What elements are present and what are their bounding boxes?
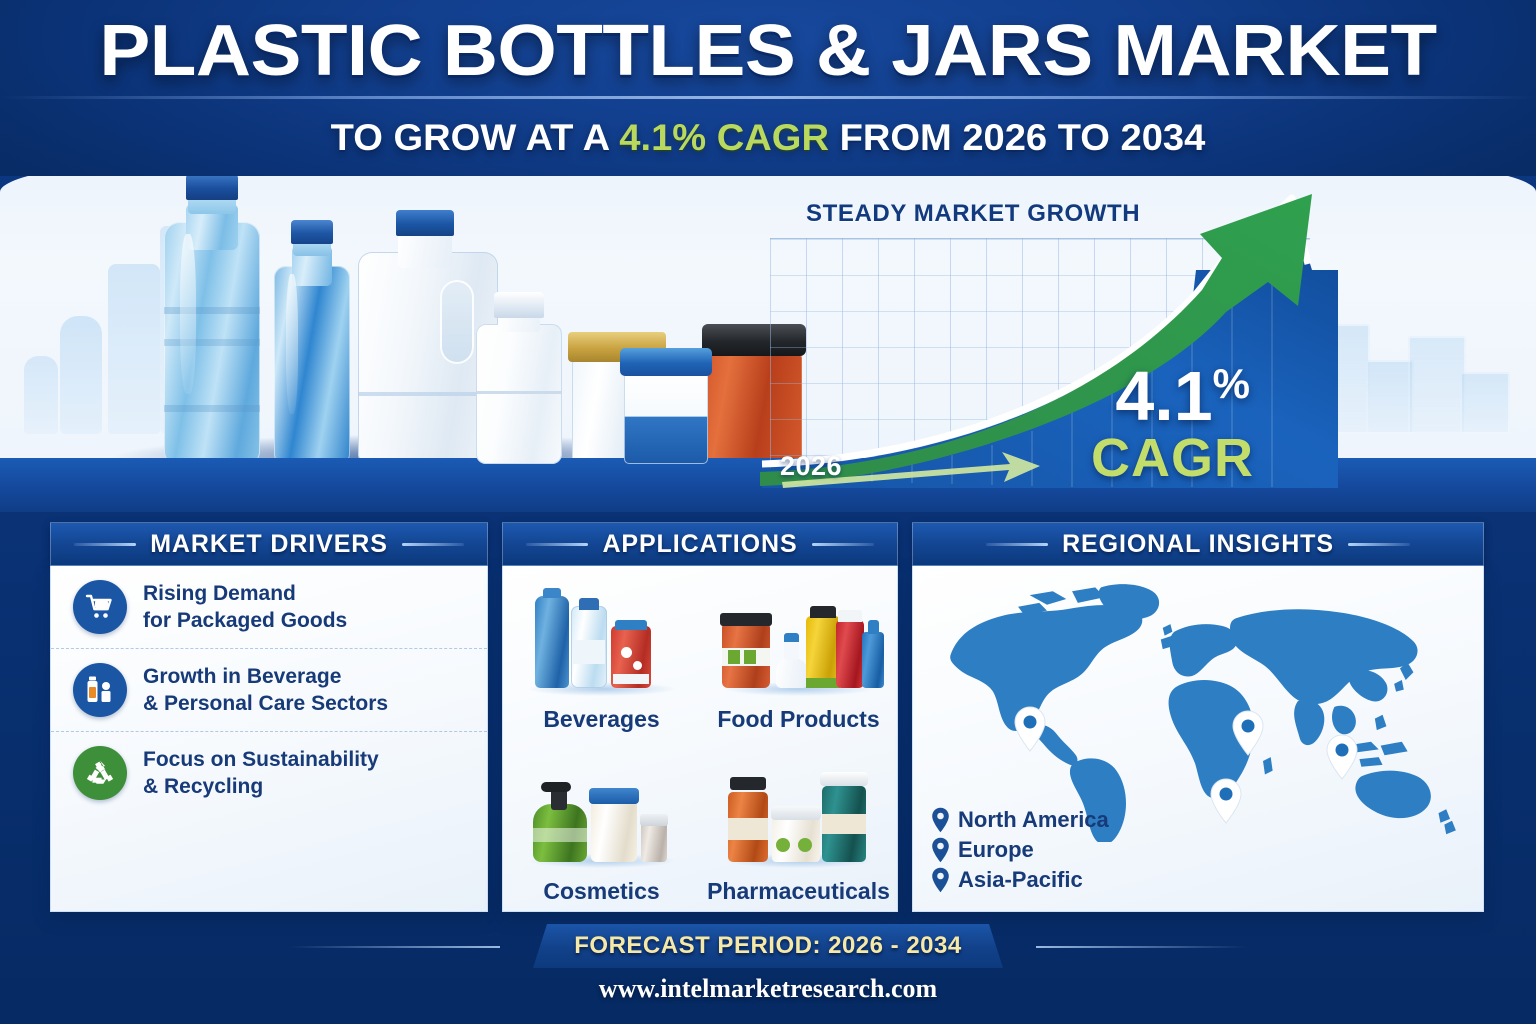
application-label: Cosmetics: [543, 878, 659, 905]
application-item[interactable]: Cosmetics: [503, 739, 700, 912]
shopping-cart-icon: [73, 580, 127, 634]
website-url[interactable]: www.intelmarketresearch.com: [0, 974, 1536, 1004]
driver-line-2: for Packaged Goods: [143, 609, 347, 632]
pin-icon: [931, 837, 950, 863]
page-subtitle: TO GROW AT A 4.1% CAGR FROM 2026 TO 2034: [0, 116, 1536, 160]
panel-body-market-drivers: Rising Demand for Packaged Goods: [50, 566, 488, 912]
driver-text: Focus on Sustainability & Recycling: [143, 746, 379, 800]
bg-bottle-silhouette: [24, 356, 58, 434]
subtitle-post: FROM 2026 TO 2034: [829, 117, 1205, 158]
jar-lid-blue: [620, 348, 712, 376]
header-rule-right: [812, 543, 874, 546]
driver-item[interactable]: Growth in Beverage & Personal Care Secto…: [51, 648, 487, 731]
region-item[interactable]: Asia-Pacific: [931, 867, 1109, 893]
driver-line-1: Rising Demand: [143, 582, 296, 605]
header-rule-right: [402, 543, 464, 546]
pet-bottle-tall: [160, 176, 264, 464]
panel-title: MARKET DRIVERS: [150, 530, 388, 559]
driver-line-2: & Personal Care Sectors: [143, 692, 388, 715]
map-pin-africa[interactable]: [1209, 778, 1243, 824]
page-title: PLASTIC BOTTLES & JARS MARKET: [0, 12, 1536, 90]
white-bottle-small: [472, 288, 566, 464]
cagr-value: 4.1%: [1115, 352, 1250, 428]
infographic-poster: PLASTIC BOTTLES & JARS MARKET TO GROW AT…: [0, 0, 1536, 1024]
pharma-bottles-icon: [714, 756, 884, 874]
driver-line-1: Growth in Beverage: [143, 665, 341, 688]
panel-header-market-drivers: MARKET DRIVERS: [50, 522, 488, 566]
panels-row: MARKET DRIVERS Rising Demand: [0, 512, 1536, 914]
driver-text: Rising Demand for Packaged Goods: [143, 580, 347, 634]
hero-product-group: [120, 144, 740, 464]
application-item[interactable]: Beverages: [503, 566, 700, 739]
region-item[interactable]: Europe: [931, 837, 1109, 863]
pin-icon: [931, 807, 950, 833]
footer-rule-left: [290, 946, 500, 948]
application-label: Pharmaceuticals: [707, 878, 890, 905]
bottles-icon: [73, 663, 127, 717]
map-pin-asia-pacific[interactable]: [1325, 734, 1359, 780]
subtitle-cagr-accent: 4.1% CAGR: [619, 117, 829, 158]
map-pin-north-america[interactable]: [1013, 706, 1047, 752]
beverage-bottles-icon: [517, 584, 687, 702]
supplement-jar-blue: [620, 336, 712, 464]
footer: FORECAST PERIOD: 2026 - 2034 www.intelma…: [0, 912, 1536, 1024]
header-sheen-divider: [0, 96, 1536, 99]
driver-line-1: Focus on Sustainability: [143, 748, 379, 771]
subtitle-pre: TO GROW AT A: [331, 117, 620, 158]
bg-bottle-silhouette: [60, 316, 102, 434]
application-item[interactable]: Pharmaceuticals: [700, 739, 897, 912]
cagr-label: CAGR: [1091, 430, 1254, 486]
application-label: Food Products: [717, 706, 879, 733]
chart-graphic: [752, 186, 1372, 504]
application-item[interactable]: Food Products: [700, 566, 897, 739]
panel-applications: APPLICATIONS: [502, 522, 898, 912]
panel-title: REGIONAL INSIGHTS: [1062, 530, 1334, 559]
chart-start-year-label: 2026: [780, 451, 842, 482]
cagr-percent-sign: %: [1213, 360, 1250, 407]
growth-chart: STEADY MARKET GROWTH 2026 4.1% CAGR: [752, 186, 1372, 504]
region-label: North America: [958, 807, 1109, 833]
panel-title: APPLICATIONS: [602, 530, 797, 559]
world-map: [923, 572, 1468, 842]
footer-rule-right: [1036, 946, 1246, 948]
jug-cap: [396, 210, 454, 236]
driver-item[interactable]: Rising Demand for Packaged Goods: [51, 566, 487, 648]
bottle-cap: [291, 220, 333, 244]
application-label: Beverages: [543, 706, 659, 733]
map-pin-europe[interactable]: [1231, 710, 1265, 756]
header-rule-right: [1348, 543, 1410, 546]
panel-market-drivers: MARKET DRIVERS Rising Demand: [50, 522, 488, 912]
driver-item[interactable]: Focus on Sustainability & Recycling: [51, 731, 487, 814]
panel-header-regional-insights: REGIONAL INSIGHTS: [912, 522, 1484, 566]
region-list: North America Europe: [931, 807, 1109, 897]
forecast-period-badge: FORECAST PERIOD: 2026 - 2034: [533, 924, 1003, 968]
pin-icon: [931, 867, 950, 893]
region-label: Europe: [958, 837, 1034, 863]
chart-title: STEADY MARKET GROWTH: [806, 200, 1140, 228]
recycle-icon: [73, 746, 127, 800]
driver-text: Growth in Beverage & Personal Care Secto…: [143, 663, 388, 717]
cosmetics-bottles-icon: [517, 756, 687, 874]
region-item[interactable]: North America: [931, 807, 1109, 833]
forecast-period-text: FORECAST PERIOD: 2026 - 2034: [574, 932, 961, 960]
header-rule-left: [526, 543, 588, 546]
header-banner: PLASTIC BOTTLES & JARS MARKET TO GROW AT…: [0, 0, 1536, 176]
region-label: Asia-Pacific: [958, 867, 1083, 893]
header-rule-left: [986, 543, 1048, 546]
bg-crate-silhouette: [1408, 336, 1466, 434]
header-rule-left: [74, 543, 136, 546]
cagr-number: 4.1: [1115, 357, 1212, 435]
panel-regional-insights: REGIONAL INSIGHTS: [912, 522, 1484, 912]
bottle-cap: [186, 174, 238, 200]
panel-header-applications: APPLICATIONS: [502, 522, 898, 566]
bg-crate-silhouette: [1366, 360, 1414, 434]
panel-body-applications: Beverages: [502, 566, 898, 912]
food-jars-icon: [714, 584, 884, 702]
bg-crate-silhouette: [1460, 372, 1510, 434]
panel-body-regional-insights: North America Europe: [912, 566, 1484, 912]
pet-bottle-medium: [270, 216, 354, 464]
driver-line-2: & Recycling: [143, 775, 263, 798]
bottle-cap: [494, 292, 544, 318]
